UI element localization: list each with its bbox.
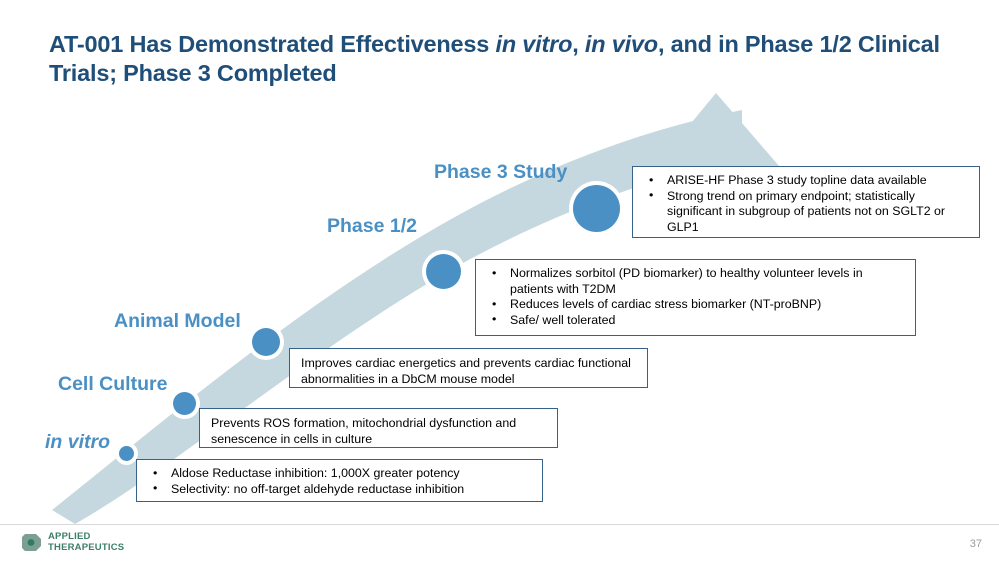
logo-line-2: THERAPEUTICS — [48, 543, 124, 554]
title-text-in-vivo: in vivo — [585, 31, 658, 57]
stage-dot-phase-1-2 — [426, 254, 461, 289]
callout-cell-culture: Prevents ROS formation, mitochondrial dy… — [199, 408, 558, 448]
stage-label-in-vitro: in vitro — [45, 431, 110, 454]
stage-dot-animal-model — [252, 328, 280, 356]
page-number: 37 — [970, 538, 982, 550]
callout-phase-3: ARISE-HF Phase 3 study topline data avai… — [632, 166, 980, 238]
callout-animal-model-text: Improves cardiac energetics and prevents… — [301, 356, 637, 387]
stage-dot-phase-3 — [573, 185, 620, 232]
title-text-2: , — [572, 31, 585, 57]
callout-phase-1-2: Normalizes sorbitol (PD biomarker) to he… — [475, 259, 916, 336]
stage-label-cell-culture: Cell Culture — [58, 373, 167, 396]
logo-line-1: APPLIED — [48, 532, 124, 543]
stage-dot-in-vitro — [119, 446, 134, 461]
stage-dot-cell-culture — [173, 392, 196, 415]
stage-label-animal-model: Animal Model — [114, 310, 241, 333]
list-item: Normalizes sorbitol (PD biomarker) to he… — [486, 266, 905, 297]
list-item: Strong trend on primary endpoint; statis… — [643, 189, 969, 236]
callout-phase-1-2-list: Normalizes sorbitol (PD biomarker) to he… — [486, 266, 905, 328]
footer-divider — [0, 524, 999, 525]
list-item: ARISE-HF Phase 3 study topline data avai… — [643, 173, 969, 189]
logo-wordmark: APPLIED THERAPEUTICS — [48, 532, 124, 553]
slide-root: AT-001 Has Demonstrated Effectiveness in… — [0, 0, 999, 562]
callout-phase-3-list: ARISE-HF Phase 3 study topline data avai… — [643, 173, 969, 235]
callout-cell-culture-text: Prevents ROS formation, mitochondrial dy… — [211, 416, 547, 447]
list-item: Reduces levels of cardiac stress biomark… — [486, 297, 905, 313]
list-item: Aldose Reductase inhibition: 1,000X grea… — [147, 466, 532, 482]
callout-animal-model: Improves cardiac energetics and prevents… — [289, 348, 648, 388]
page-title: AT-001 Has Demonstrated Effectiveness in… — [49, 30, 949, 88]
title-text-in-vitro: in vitro — [495, 31, 572, 57]
stage-label-phase-1-2: Phase 1/2 — [327, 215, 417, 238]
applied-therapeutics-mark-icon — [22, 533, 42, 552]
list-item: Selectivity: no off-target aldehyde redu… — [147, 482, 532, 498]
callout-in-vitro: Aldose Reductase inhibition: 1,000X grea… — [136, 459, 543, 502]
title-text-1: AT-001 Has Demonstrated Effectiveness — [49, 31, 495, 57]
company-logo: APPLIED THERAPEUTICS — [22, 532, 124, 553]
list-item: Safe/ well tolerated — [486, 313, 905, 329]
callout-in-vitro-list: Aldose Reductase inhibition: 1,000X grea… — [147, 466, 532, 497]
stage-label-phase-3: Phase 3 Study — [434, 161, 567, 184]
